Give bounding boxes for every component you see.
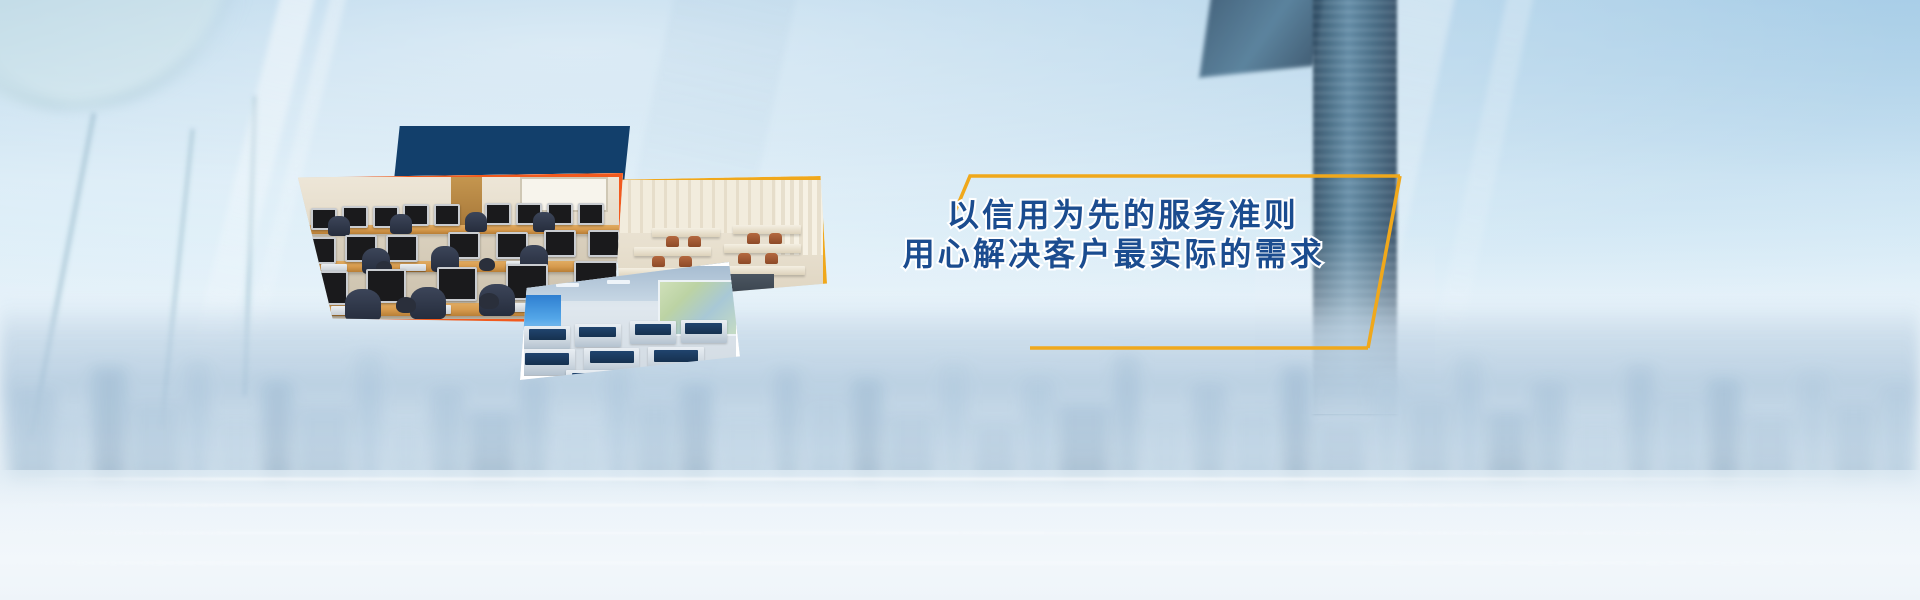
slogan-line-1: 以信用为先的服务准则 xyxy=(845,196,1325,235)
slogan-line-2: 用心解决客户最实际的需求 xyxy=(845,235,1325,274)
slogan-text: 以信用为先的服务准则 用心解决客户最实际的需求 xyxy=(845,196,1325,274)
photo-collage xyxy=(0,0,1100,600)
hero-banner: 以信用为先的服务准则 用心解决客户最实际的需求 xyxy=(0,0,1920,600)
